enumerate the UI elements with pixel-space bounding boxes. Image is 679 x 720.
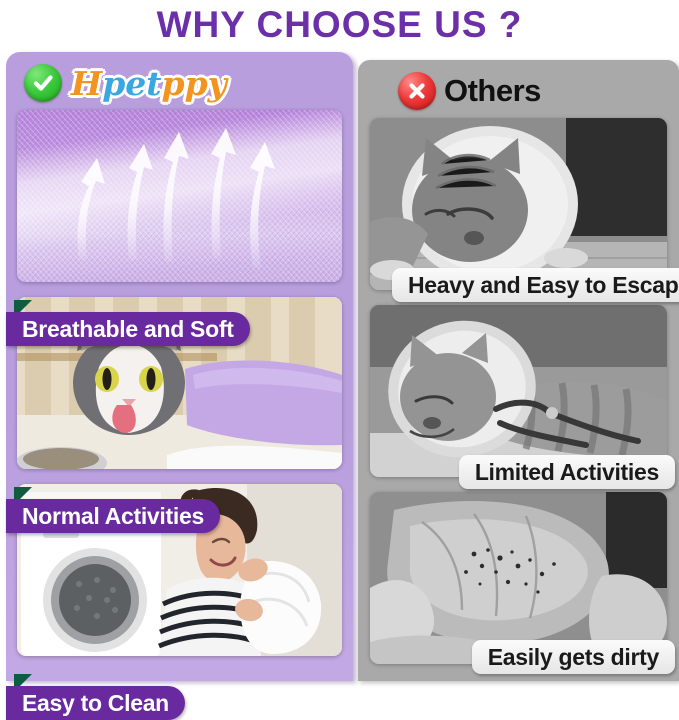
- others-label: Others: [444, 73, 541, 109]
- mesh-fabric-photo: [17, 110, 342, 282]
- brand-logo: Hpetppy: [71, 67, 227, 100]
- brand-logo-part-c: ppy: [162, 64, 227, 103]
- comparison-panel-others: Others: [358, 60, 679, 681]
- panel-header-ours: Hpetppy: [24, 60, 227, 106]
- comparison-panel-ours: Hpetppy: [6, 52, 353, 681]
- caption-easy-to-clean: Easy to Clean: [6, 686, 185, 720]
- page-title: WHY CHOOSE US ?: [0, 0, 679, 50]
- panel-header-others: Others: [398, 68, 541, 114]
- other-image-heavy-escape: [370, 118, 667, 290]
- caption-heavy-and-easy-to-escape: Heavy and Easy to Escape: [392, 268, 679, 302]
- check-circle-icon: [24, 64, 62, 102]
- soiled-fabric-cone-photo: [370, 492, 667, 664]
- cross-circle-icon: [398, 72, 436, 110]
- brand-logo-part-a: H: [71, 64, 102, 103]
- cat-in-cone-with-harness-photo: [370, 305, 667, 477]
- caption-easily-gets-dirty: Easily gets dirty: [472, 640, 675, 674]
- caption-breathable-and-soft: Breathable and Soft: [6, 312, 250, 346]
- cat-in-plastic-cone-photo: [370, 118, 667, 290]
- brand-logo-part-b: pet: [102, 64, 161, 103]
- caption-limited-activities: Limited Activities: [459, 455, 675, 489]
- feature-image-breathable: [17, 110, 342, 282]
- other-image-easily-gets-dirty: [370, 492, 667, 664]
- caption-normal-activities: Normal Activities: [6, 499, 220, 533]
- other-image-limited-activities: [370, 305, 667, 477]
